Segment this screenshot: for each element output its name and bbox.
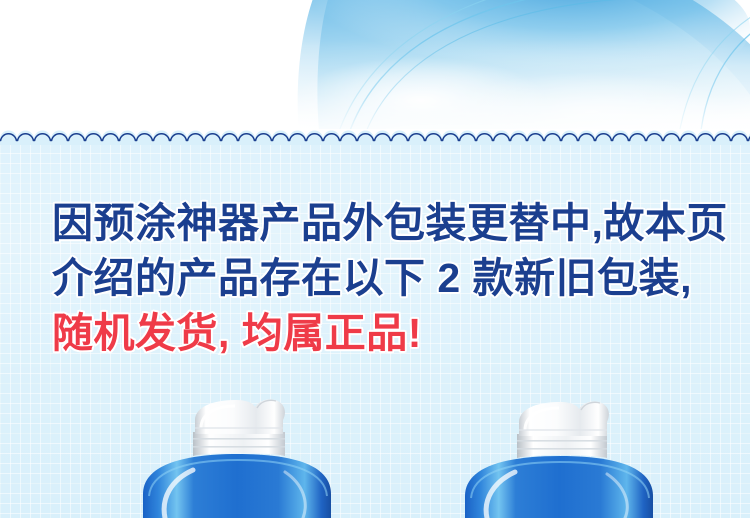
notice-line-1: 因预涂神器产品外包装更替中,故本页 bbox=[52, 196, 732, 251]
scalloped-edge bbox=[0, 129, 750, 145]
notice-text-block: 因预涂神器产品外包装更替中,故本页 介绍的产品存在以下 2 款新旧包装, 随机发… bbox=[52, 196, 732, 361]
product-detail-banner: 因预涂神器产品外包装更替中,故本页 介绍的产品存在以下 2 款新旧包装, 随机发… bbox=[0, 0, 750, 518]
hero-header bbox=[0, 0, 750, 140]
detergent-bottle-graphic bbox=[135, 398, 345, 518]
notice-line-2: 介绍的产品存在以下 2 款新旧包装, bbox=[52, 251, 732, 306]
product-image-old-packaging bbox=[135, 398, 345, 518]
product-image-new-packaging bbox=[455, 398, 665, 518]
notice-line-3: 随机发货, 均属正品! bbox=[52, 306, 732, 361]
detergent-bottle-graphic bbox=[455, 398, 665, 518]
blue-swoosh-graphic bbox=[0, 0, 750, 140]
